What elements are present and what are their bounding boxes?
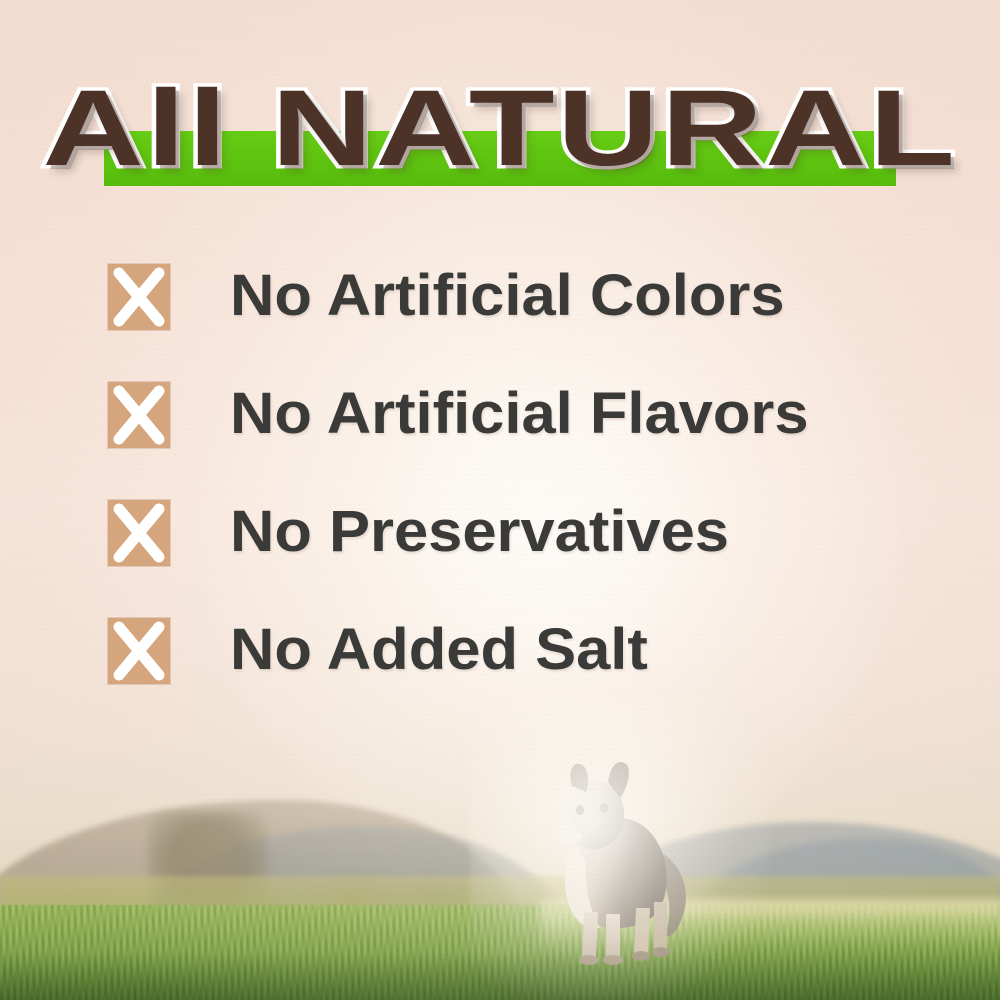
x-mark-icon (108, 618, 170, 684)
x-mark-icon (108, 264, 170, 330)
feature-label: No Artificial Colors (230, 258, 785, 334)
list-item: No Artificial Colors (108, 258, 948, 376)
list-item: No Added Salt (108, 612, 948, 730)
list-item: No Artificial Flavors (108, 376, 948, 494)
list-item: No Preservatives (108, 494, 948, 612)
all-natural-product-poster: All NATURAL No Artificial Colors No Arti… (0, 0, 1000, 1000)
grass-shadow (0, 952, 1000, 1000)
x-mark-icon (108, 500, 170, 566)
feature-label: No Preservatives (230, 494, 729, 570)
dog-illustration (520, 752, 710, 967)
feature-label: No Added Salt (230, 612, 648, 688)
feature-list: No Artificial Colors No Artificial Flavo… (108, 258, 948, 730)
x-mark-icon (108, 382, 170, 448)
page-title: All NATURAL (0, 74, 1000, 182)
feature-label: No Artificial Flavors (230, 376, 809, 452)
